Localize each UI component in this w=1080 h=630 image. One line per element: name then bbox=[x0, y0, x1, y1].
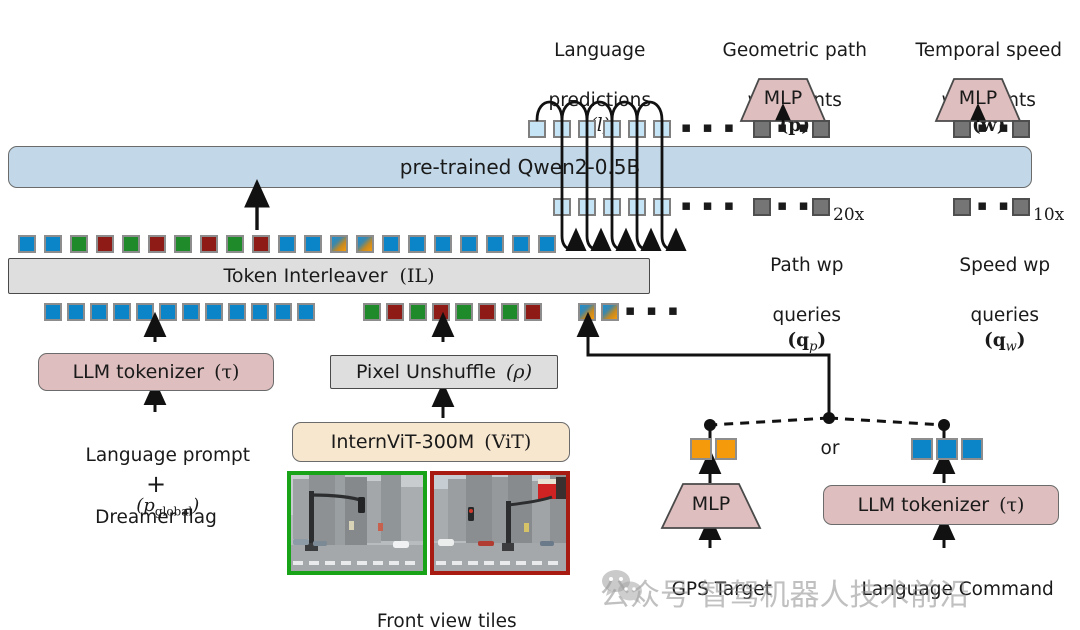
interleaver-out-token bbox=[70, 235, 88, 253]
query-token-speed bbox=[953, 198, 971, 216]
interleaver-out-token bbox=[486, 235, 504, 253]
command-token bbox=[911, 438, 933, 460]
query-language-ellipsis: ▪ ▪ ▪ bbox=[681, 196, 737, 214]
command-token bbox=[936, 438, 958, 460]
interleaver-out-token bbox=[252, 235, 270, 253]
label-path-wp-queries: Path wp queries (qp) bbox=[700, 228, 890, 385]
mlp-label: MLP bbox=[935, 87, 1021, 109]
mlp-speed-head: MLP bbox=[935, 78, 1021, 122]
llm-tokenizer-right-block: LLM tokenizer (τ) bbox=[823, 485, 1059, 525]
output-token-language bbox=[578, 120, 596, 138]
interleaver-in-text-token bbox=[67, 303, 85, 321]
query-token-language bbox=[578, 198, 596, 216]
output-token-language bbox=[653, 120, 671, 138]
interleaver-in-vision-token bbox=[478, 303, 496, 321]
label-front-view-tiles: Front view tiles in bbox=[300, 584, 570, 630]
label-line2: predictions bbox=[549, 90, 651, 111]
interleaver-out-token bbox=[226, 235, 244, 253]
interleaver-in-text-token bbox=[44, 303, 62, 321]
street-scene-right bbox=[434, 475, 566, 571]
label-or-selector: or bbox=[800, 436, 860, 461]
interleaver-out-token bbox=[538, 235, 556, 253]
llm-tokenizer-left-label: LLM tokenizer bbox=[73, 361, 205, 383]
interleaver-in-vision-token bbox=[455, 303, 473, 321]
pixel-unshuffle-symbol: (ρ) bbox=[506, 361, 532, 383]
internvit-block: InternViT-300M (ViT) bbox=[292, 422, 570, 462]
interleaver-out-token bbox=[382, 235, 400, 253]
architecture-diagram: Language predictions (l) Geometric path … bbox=[0, 0, 1080, 630]
pixel-unshuffle-label: Pixel Unshuffle bbox=[356, 361, 496, 383]
query-token-language bbox=[653, 198, 671, 216]
gps-token bbox=[690, 438, 712, 460]
interleaver-out-token bbox=[460, 235, 478, 253]
interleaver-in-vision-token bbox=[386, 303, 404, 321]
query-token-path bbox=[812, 198, 830, 216]
mlp-label: MLP bbox=[661, 493, 761, 515]
mlp-path-head: MLP bbox=[740, 78, 826, 122]
interleaver-in-text-token bbox=[228, 303, 246, 321]
path-queries-line2: queries bbox=[772, 305, 841, 326]
mlp-label: MLP bbox=[740, 87, 826, 109]
label-line1: Language bbox=[554, 40, 645, 61]
interleaver-in-text-token bbox=[90, 303, 108, 321]
speed-queries-line2: queries bbox=[970, 305, 1039, 326]
interleaver-in-vision-token bbox=[524, 303, 542, 321]
watermark-text: 公众号 智驾机器人技术前沿 bbox=[600, 570, 970, 614]
speed-repeat-count: 10x bbox=[1033, 203, 1064, 228]
interleaver-out-token bbox=[512, 235, 530, 253]
interleaver-out-token bbox=[434, 235, 452, 253]
speed-queries-line1: Speed wp bbox=[959, 255, 1050, 276]
interleaver-out-token bbox=[122, 235, 140, 253]
output-token-language bbox=[528, 120, 546, 138]
path-repeat-count: 20x bbox=[833, 203, 864, 228]
query-token-path bbox=[753, 198, 771, 216]
backbone-label: pre-trained Qwen2-0.5B bbox=[400, 155, 640, 179]
interleaver-in-text-token bbox=[159, 303, 177, 321]
output-token-speed bbox=[953, 120, 971, 138]
llm-tokenizer-right-label: LLM tokenizer bbox=[858, 494, 990, 516]
interleaver-out-token bbox=[200, 235, 218, 253]
interleaver-out-token bbox=[96, 235, 114, 253]
front-view-text: Front view tiles bbox=[377, 611, 517, 630]
interleaver-in-ellipsis: ▪ ▪ ▪ bbox=[625, 301, 681, 319]
interleaver-in-vision-token bbox=[409, 303, 427, 321]
output-token-language bbox=[628, 120, 646, 138]
output-token-language bbox=[603, 120, 621, 138]
interleaver-out-token bbox=[174, 235, 192, 253]
interleaver-out-token bbox=[18, 235, 36, 253]
interleaver-in-text-token bbox=[274, 303, 292, 321]
internvit-label: InternViT-300M bbox=[331, 431, 475, 453]
label-speed-wp-queries: Speed wp queries (qw) bbox=[898, 228, 1080, 385]
interleaver-in-text-token bbox=[182, 303, 200, 321]
language-prompt-text: Language prompt bbox=[86, 445, 250, 466]
interleaver-in-vision-token bbox=[363, 303, 381, 321]
output-token-speed bbox=[1012, 120, 1030, 138]
street-scene-left bbox=[291, 475, 423, 571]
interleaver-in-vision-token bbox=[432, 303, 450, 321]
path-queries-line1: Path wp bbox=[770, 255, 843, 276]
llm-tokenizer-left-block: LLM tokenizer (τ) bbox=[38, 353, 274, 391]
interleaver-out-token bbox=[148, 235, 166, 253]
interleaver-out-token bbox=[44, 235, 62, 253]
label-plus-operator: + bbox=[35, 472, 277, 497]
mlp-gps-encoder: MLP bbox=[661, 483, 761, 529]
wechat-logo-icon bbox=[600, 568, 646, 604]
command-token bbox=[961, 438, 983, 460]
interleaver-in-text-token bbox=[113, 303, 131, 321]
interleaver-in-text-token bbox=[136, 303, 154, 321]
query-token-speed bbox=[1012, 198, 1030, 216]
interleaver-out-token bbox=[330, 235, 348, 253]
token-interleaver-block: Token Interleaver (IL) bbox=[8, 258, 650, 294]
llm-tokenizer-left-symbol: (τ) bbox=[214, 361, 239, 383]
interleaver-out-token bbox=[408, 235, 426, 253]
internvit-symbol: (ViT) bbox=[484, 431, 531, 453]
path-queries-symbol: (qp) bbox=[787, 330, 826, 351]
interleaver-out-token bbox=[356, 235, 374, 253]
label-dreamer-flag: Dreamer flag bbox=[35, 505, 277, 530]
label-line1: Temporal speed bbox=[916, 40, 1062, 61]
interleaver-symbol: (IL) bbox=[400, 265, 435, 287]
interleaver-out-token bbox=[278, 235, 296, 253]
interleaver-label: Token Interleaver bbox=[223, 265, 387, 287]
interleaver-in-text-token bbox=[205, 303, 223, 321]
front-view-tile-right bbox=[430, 471, 570, 575]
label-line1: Geometric path bbox=[722, 40, 867, 61]
output-token-path bbox=[753, 120, 771, 138]
query-token-language bbox=[628, 198, 646, 216]
llm-tokenizer-right-symbol: (τ) bbox=[999, 494, 1024, 516]
interleaver-in-text-token bbox=[297, 303, 315, 321]
query-token-language bbox=[603, 198, 621, 216]
query-token-language bbox=[553, 198, 571, 216]
interleaver-in-vision-token bbox=[501, 303, 519, 321]
interleaver-out-token bbox=[304, 235, 322, 253]
interleaver-in-cond-token bbox=[578, 303, 596, 321]
interleaver-in-cond-token bbox=[601, 303, 619, 321]
output-token-language bbox=[553, 120, 571, 138]
gps-token bbox=[715, 438, 737, 460]
output-token-path bbox=[812, 120, 830, 138]
backbone-qwen2-block: pre-trained Qwen2-0.5B bbox=[8, 146, 1032, 188]
speed-queries-symbol: (qw) bbox=[984, 330, 1026, 351]
interleaver-in-text-token bbox=[251, 303, 269, 321]
pixel-unshuffle-block: Pixel Unshuffle (ρ) bbox=[330, 355, 558, 389]
front-view-tile-left bbox=[287, 471, 427, 575]
